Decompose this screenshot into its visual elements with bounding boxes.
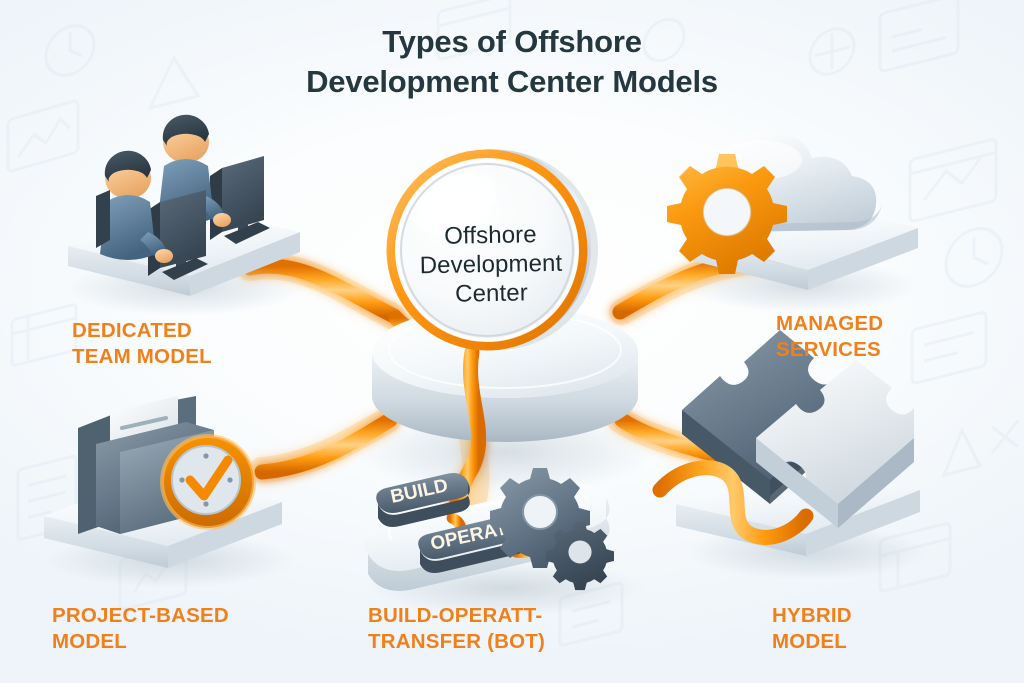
node-build-operate-transfer[interactable]: BUILD OPERATE: [364, 468, 645, 616]
page-title: Types of Offshore Development Center Mod…: [0, 22, 1024, 101]
label-project-based[interactable]: PROJECT-BASED MODEL: [52, 603, 229, 655]
label-managed-services[interactable]: MANAGED SERVICES: [776, 311, 883, 363]
label-hybrid[interactable]: HYBRID MODEL: [772, 603, 852, 655]
center-lens-label: Offshore Development Center: [395, 220, 586, 310]
infographic-canvas: BUILD OPERATE: [0, 0, 1024, 683]
label-build-operate-transfer[interactable]: BUILD-OPERATT- TRANSFER (BOT): [368, 603, 545, 655]
folder-with-clock-icon: [78, 396, 254, 534]
node-project-based[interactable]: [44, 396, 295, 588]
node-dedicated-team[interactable]: [65, 115, 305, 316]
node-managed-services[interactable]: [667, 132, 918, 313]
label-dedicated-team[interactable]: DEDICATED TEAM MODEL: [72, 318, 212, 370]
